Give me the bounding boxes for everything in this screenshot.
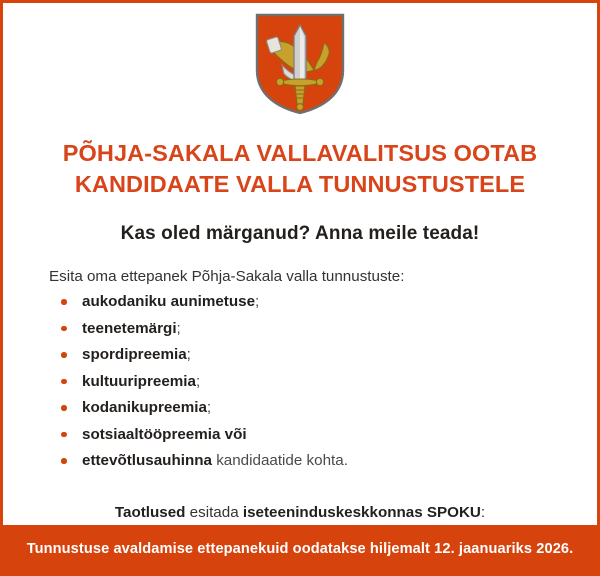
deadline-banner: Tunnustuse avaldamise ettepanekuid oodat… [3, 525, 597, 573]
list-item-plain: ; [207, 399, 211, 416]
list-item-plain: ; [187, 346, 191, 363]
bullet-dot-icon [61, 405, 67, 411]
bullet-dot-icon [61, 326, 67, 332]
list-item-bold: teenetemärgi [82, 320, 177, 337]
apply-lead-end: : [481, 504, 485, 521]
body-section: Esita oma ettepanek Põhja-Sakala valla t… [3, 245, 597, 471]
page-subtitle: Kas oled märganud? Anna meile teada! [3, 201, 597, 245]
apply-lead-bold: Taotlused [115, 504, 186, 521]
bullet-dot-icon [61, 299, 67, 305]
page-title: PÕHJA-SAKALA VALLAVALITSUS OOTAB KANDIDA… [3, 116, 597, 201]
deadline-text: Tunnustuse avaldamise ettepanekuid oodat… [13, 541, 588, 557]
list-item: sotsiaaltööpreemia või [49, 425, 597, 444]
apply-lead-mid: esitada [185, 504, 242, 521]
list-item-bold: aukodaniku aunimetuse [82, 293, 255, 310]
list-item-bold: spordipreemia [82, 346, 187, 363]
list-item: teenetemärgi; [49, 319, 597, 338]
list-item: kultuuripreemia; [49, 372, 597, 391]
bullet-dot-icon [61, 379, 67, 385]
list-item-bold: kultuuripreemia [82, 373, 196, 390]
list-item-plain: kandidaatide kohta. [212, 452, 348, 469]
list-item: kodanikupreemia; [49, 398, 597, 417]
apply-service-name: iseteeninduskeskkonnas SPOKU [243, 504, 481, 521]
list-item: aukodaniku aunimetuse; [49, 292, 597, 311]
bullet-dot-icon [61, 432, 67, 438]
page-title-line-2: KANDIDAATE VALLA TUNNUSTUSTELE [33, 169, 567, 200]
page-title-line-1: PÕHJA-SAKALA VALLAVALITSUS OOTAB [33, 138, 567, 169]
list-item-plain: ; [255, 293, 259, 310]
coat-of-arms-shield-icon [254, 12, 346, 116]
list-item-plain: ; [196, 373, 200, 390]
list-item: ettevõtlusauhinna kandidaatide kohta. [49, 451, 597, 470]
bullet-dot-icon [61, 352, 67, 358]
list-item-plain: ; [177, 320, 181, 337]
crest-container [3, 3, 597, 116]
list-item-bold: kodanikupreemia [82, 399, 207, 416]
list-item-bold: ettevõtlusauhinna [82, 452, 212, 469]
list-item-bold: sotsiaaltööpreemia või [82, 426, 247, 443]
criteria-list: aukodaniku aunimetuse; teenetemärgi; spo… [49, 292, 597, 470]
intro-text: Esita oma ettepanek Põhja-Sakala valla t… [49, 267, 597, 287]
list-item: spordipreemia; [49, 345, 597, 364]
poster-canvas: PÕHJA-SAKALA VALLAVALITSUS OOTAB KANDIDA… [0, 0, 600, 576]
bullet-dot-icon [61, 458, 67, 464]
